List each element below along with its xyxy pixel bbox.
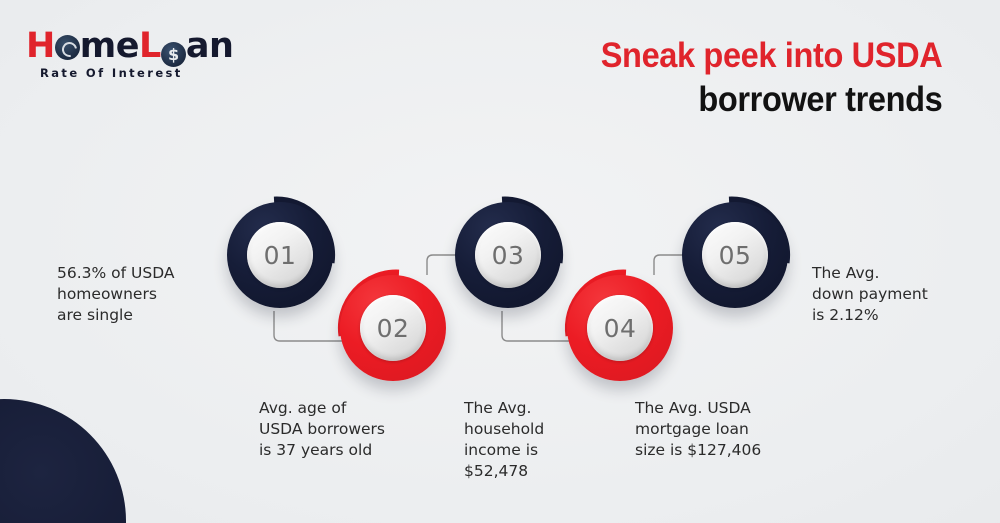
step-inner-04: 04 [587,295,653,361]
step-node-04[interactable]: 04 [564,272,676,384]
step-number-03: 03 [492,241,525,270]
infographic-canvas: HmeL$an Rate Of Interest Sneak peek into… [0,0,1000,523]
step-caption-02: Avg. age of USDA borrowers is 37 years o… [259,398,449,461]
step-number-04: 04 [604,314,637,343]
step-number-05: 05 [719,241,752,270]
step-number-02: 02 [377,314,410,343]
step-number-01: 01 [264,241,297,270]
step-node-02[interactable]: 02 [337,272,449,384]
step-inner-02: 02 [360,295,426,361]
step-caption-03: The Avg. household income is $52,478 [464,398,604,482]
step-caption-01: 56.3% of USDA homeowners are single [57,263,232,326]
step-inner-05: 05 [702,222,768,288]
step-caption-04: The Avg. USDA mortgage loan size is $127… [635,398,815,461]
step-caption-05: The Avg. down payment is 2.12% [812,263,977,326]
step-node-01[interactable]: 01 [224,199,336,311]
step-node-05[interactable]: 05 [679,199,791,311]
step-node-03[interactable]: 03 [452,199,564,311]
step-inner-01: 01 [247,222,313,288]
step-inner-03: 03 [475,222,541,288]
